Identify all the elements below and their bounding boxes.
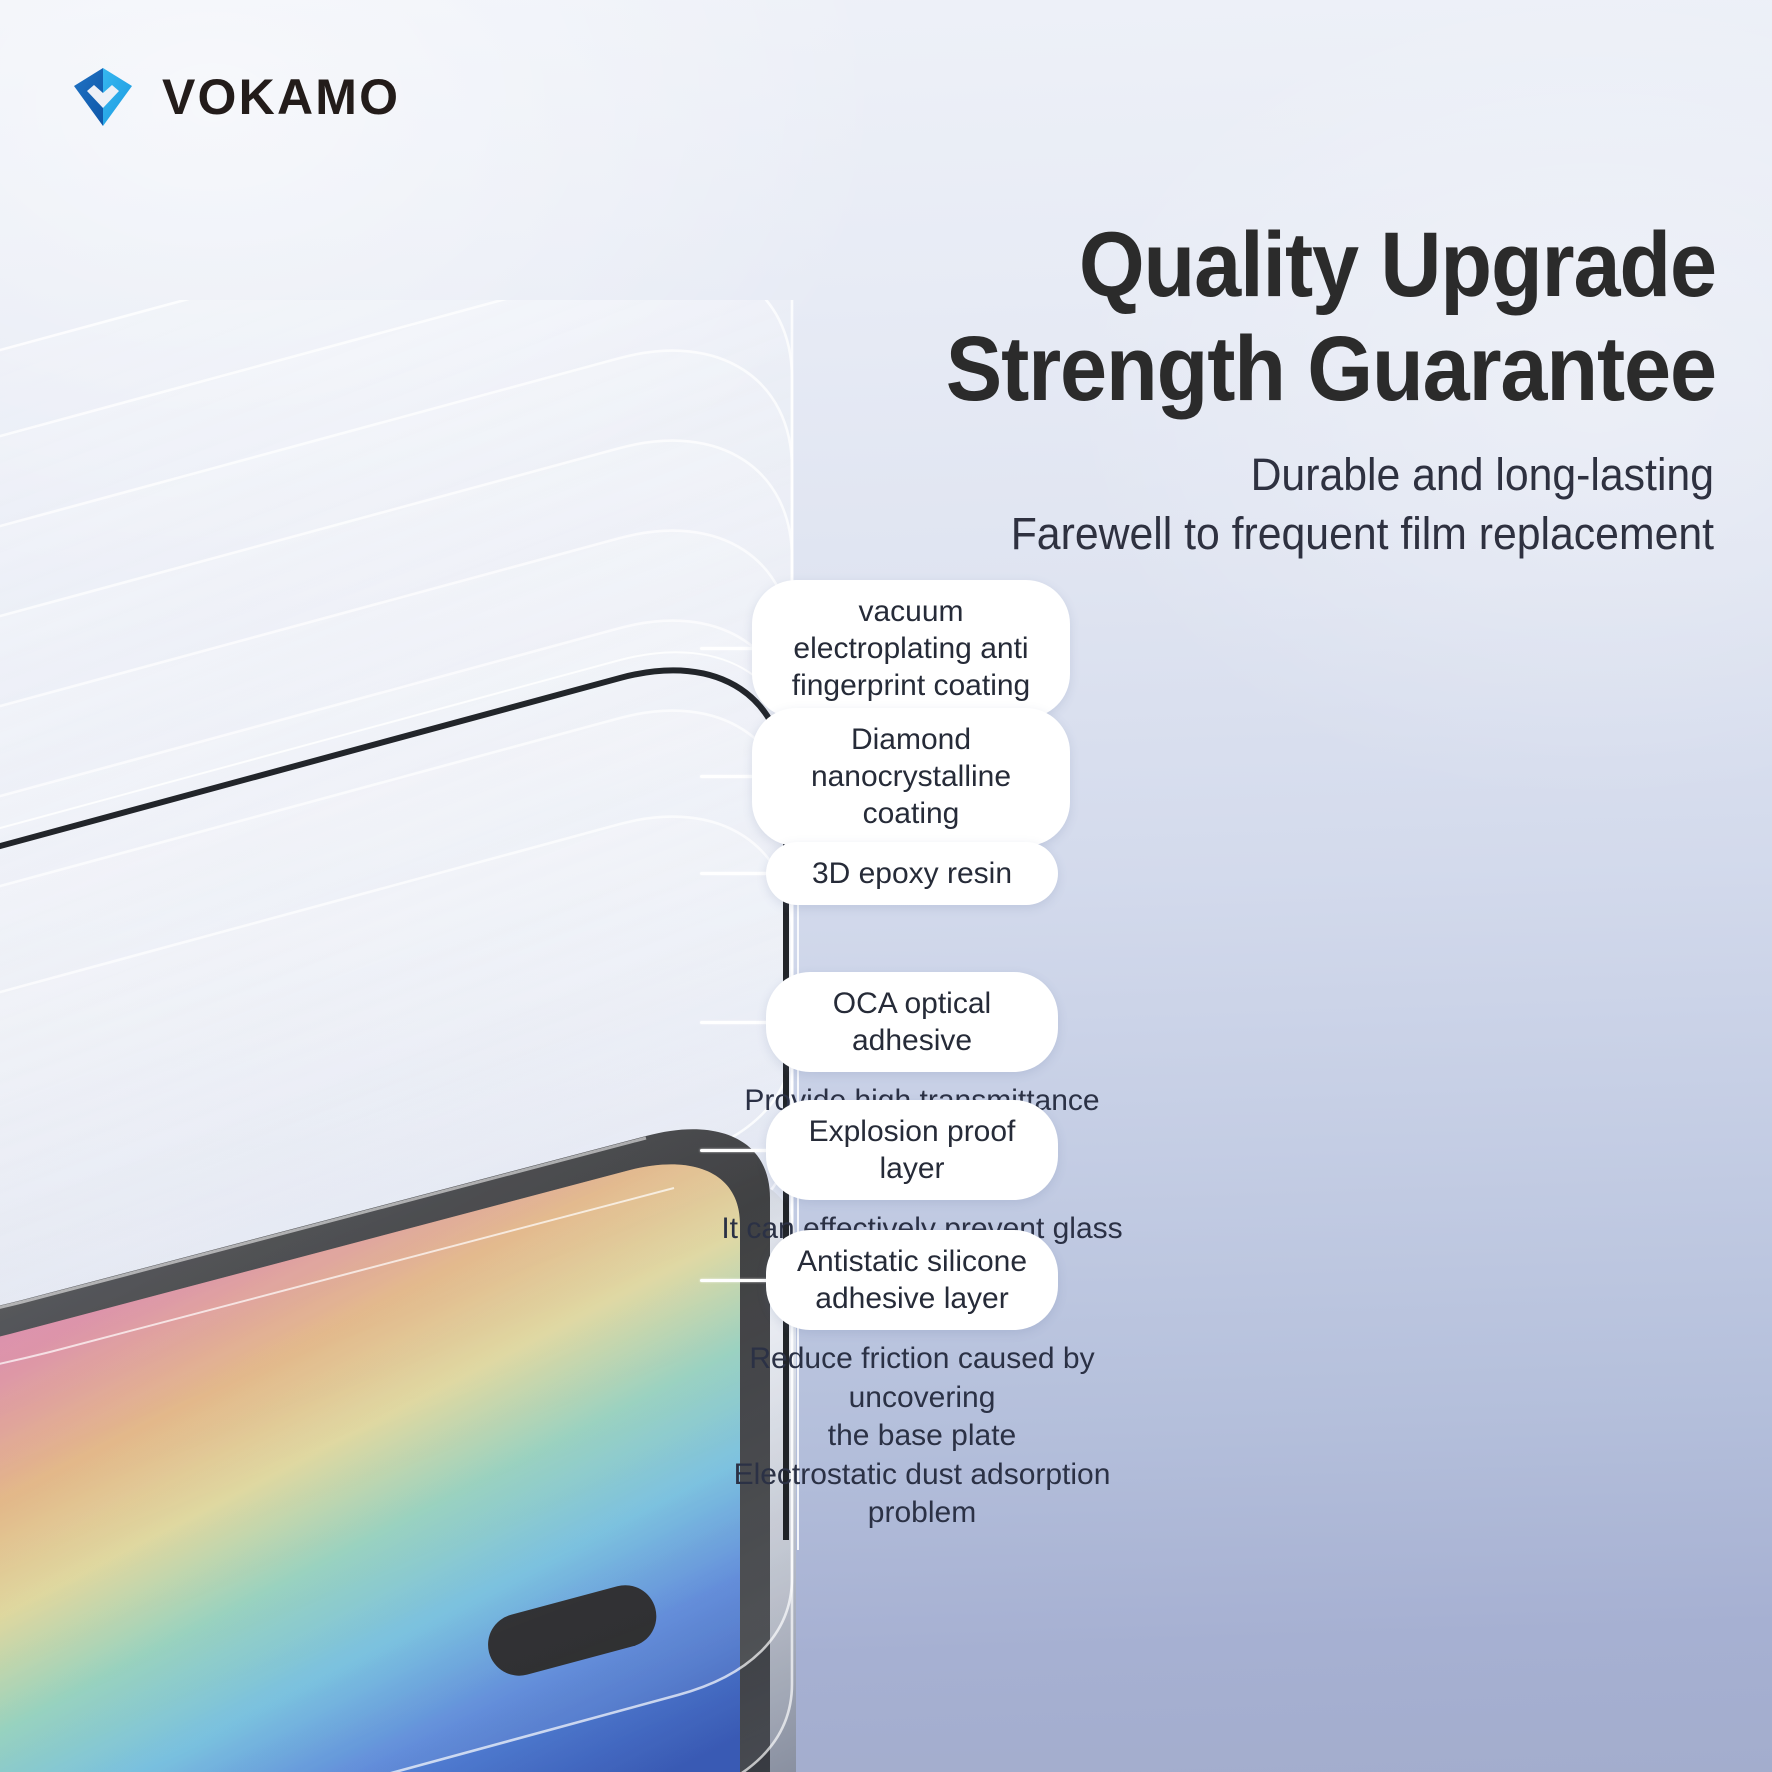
callout-row: Diamond nanocrystallinecoating (700, 708, 1070, 846)
feature-callout: 3D epoxy resin (700, 842, 1058, 905)
page-subtitle: Durable and long-lasting Farewell to fre… (764, 446, 1714, 563)
brand-logo: VOKAMO (66, 64, 400, 130)
callout-row: Antistatic siliconeadhesive layer (700, 1230, 1144, 1330)
callout-row: 3D epoxy resin (700, 842, 1058, 905)
feature-callout: vacuum electroplating antifingerprint co… (700, 580, 1070, 718)
subtitle-line-2: Farewell to frequent film replacement (764, 505, 1714, 564)
callout-label-line: vacuum electroplating anti (782, 593, 1040, 667)
diamond-heart-icon (66, 64, 140, 130)
callout-row: OCA optical adhesive (700, 972, 1144, 1072)
subtitle-line-1: Durable and long-lasting (764, 446, 1714, 505)
page-title: Quality Upgrade Strength Guarantee (796, 214, 1716, 422)
feature-callout: Diamond nanocrystallinecoating (700, 708, 1070, 846)
callout-description-line: Electrostatic dust adsorption problem (700, 1456, 1144, 1533)
callout-label-line: Antistatic silicone (797, 1243, 1027, 1280)
callout-row: vacuum electroplating antifingerprint co… (700, 580, 1070, 718)
callout-description-line: Reduce friction caused by uncovering (700, 1340, 1144, 1417)
poster-canvas: VOKAMO Quality Upgrade Strength Guarante… (0, 0, 1772, 1772)
callout-label-line: OCA optical adhesive (796, 985, 1028, 1059)
callout-label-line: Explosion proof layer (796, 1113, 1028, 1187)
feature-callout: Antistatic siliconeadhesive layerReduce … (700, 1230, 1144, 1532)
film-layer-front-group (0, 711, 792, 1772)
callout-row: Explosion proof layer (700, 1100, 1144, 1200)
feature-callout: OCA optical adhesiveProvide high transmi… (700, 972, 1144, 1121)
callout-label-line: coating (782, 795, 1040, 832)
callout-label-line: Diamond nanocrystalline (782, 721, 1040, 795)
headline-line-1: Quality Upgrade (1079, 214, 1716, 316)
callout-pill: OCA optical adhesive (766, 972, 1058, 1072)
callout-description-line: the base plate (700, 1417, 1144, 1455)
callout-pill: vacuum electroplating antifingerprint co… (752, 580, 1070, 718)
brand-name: VOKAMO (162, 72, 400, 122)
callout-label-line: fingerprint coating (782, 667, 1040, 704)
callout-pill: Antistatic siliconeadhesive layer (766, 1230, 1058, 1330)
callout-label-line: 3D epoxy resin (812, 855, 1012, 892)
callout-pill: Explosion proof layer (766, 1100, 1058, 1200)
callout-pill: Diamond nanocrystallinecoating (752, 708, 1070, 846)
callout-description: Reduce friction caused by uncoveringthe … (700, 1340, 1144, 1532)
callout-label-line: adhesive layer (797, 1280, 1027, 1317)
callout-pill: 3D epoxy resin (766, 842, 1058, 905)
headline-line-2: Strength Guarantee (796, 318, 1716, 422)
